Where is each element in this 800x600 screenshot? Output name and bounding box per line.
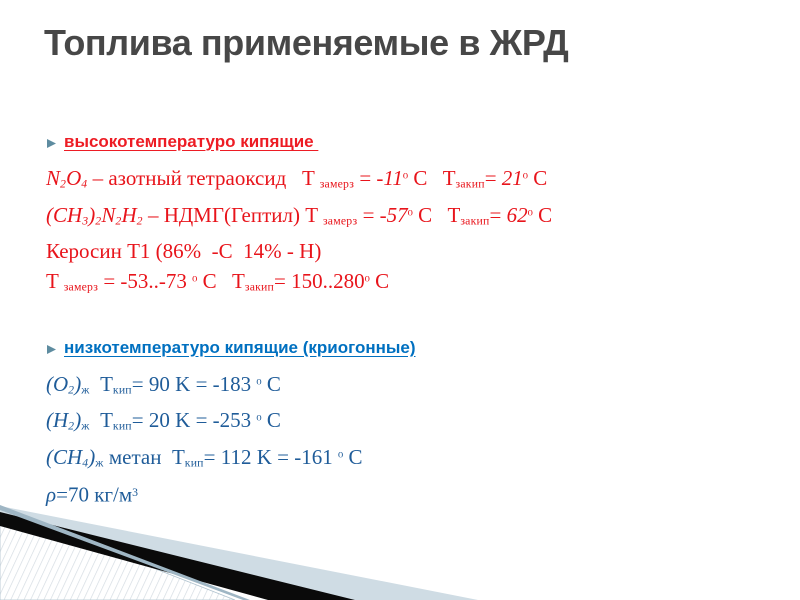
line-methane: (CH4)ж метан Tкип= 112 K = -161 ⁰ C: [46, 442, 786, 479]
boil-temp-methane: Tкип= 112 K = -161 ⁰ C: [172, 445, 363, 469]
bullet-heading-low-boiling: низкотемпературо кипящие (криогонные): [46, 337, 786, 359]
spacer: [46, 153, 786, 163]
formula-n2o4: N2O4: [46, 166, 87, 190]
hatched-field-outline: [0, 508, 235, 600]
slide-canvas: Топлива применяемые в ЖРД высокотемперат…: [0, 0, 800, 600]
freeze-temp-n2o4: T замерз = -11⁰ C: [302, 166, 427, 190]
triangle-right-icon: [46, 337, 64, 355]
compound-name-n2o4: азотный тетраоксид: [108, 166, 286, 190]
page-title: Топлива применяемые в ЖРД: [44, 22, 744, 64]
compound-name-methane: метан: [109, 445, 162, 469]
accent-line: [0, 505, 250, 600]
freeze-temp-ndmg: T замерз = -57⁰ C: [305, 203, 432, 227]
light-wedge: [0, 506, 478, 600]
bullet-heading-high-boiling: высокотемпературо кипящие: [46, 131, 786, 153]
line-oxygen: (O2)ж Tкип= 90 K = -183 ⁰ C: [46, 369, 786, 406]
spacer: [46, 303, 786, 337]
spacer: [46, 359, 786, 369]
line-hydrogen: (H2)ж Tкип= 20 K = -253 ⁰ C: [46, 405, 786, 442]
section-heading-high-boiling: высокотемпературо кипящие: [64, 131, 318, 153]
formula-hydrogen: (H2): [46, 408, 81, 432]
formula-methane: (CH4): [46, 445, 95, 469]
line-ndmg-real: (CH3)2N2H2 – НДМГ(Гептил) T замерз = -57…: [46, 200, 786, 237]
line-kerosene-composition: Керосин Т1 (86% -С 14% - Н): [46, 236, 786, 266]
slide-body: высокотемпературо кипящие N2O4 – азотный…: [46, 131, 786, 510]
formula-ndmg-full: (CH3)2N2H2: [46, 203, 143, 227]
boil-temp-oxygen: Tкип= 90 K = -183 ⁰ C: [100, 372, 281, 396]
boil-temp-kerosene: Tзакип= 150..280⁰ C: [232, 269, 389, 293]
density-value: 70: [68, 483, 89, 507]
boil-temp-n2o4: Tзакип= 21⁰ C: [443, 166, 548, 190]
line-n2o4: N2O4 – азотный тетраоксид T замерз = -11…: [46, 163, 786, 200]
density-unit: кг/м: [94, 483, 132, 507]
formula-oxygen: (O2): [46, 372, 81, 396]
section-heading-low-boiling: низкотемпературо кипящие (криогонные): [64, 337, 416, 359]
line-kerosene-temps: T замерз = -53..-73 ⁰ C Tзакип= 150..280…: [46, 266, 786, 303]
boil-temp-ndmg: Tзакип= 62⁰ C: [448, 203, 553, 227]
freeze-temp-kerosene: T замерз = -53..-73 ⁰ C: [46, 269, 217, 293]
density-symbol: ρ: [46, 483, 56, 507]
boil-temp-hydrogen: Tкип= 20 K = -253 ⁰ C: [100, 408, 281, 432]
line-density: ρ=70 кг/м3: [46, 478, 786, 509]
black-wedge: [0, 512, 355, 600]
triangle-right-icon: [46, 131, 64, 149]
compound-name-ndmg: НДМГ(Гептил): [164, 203, 300, 227]
